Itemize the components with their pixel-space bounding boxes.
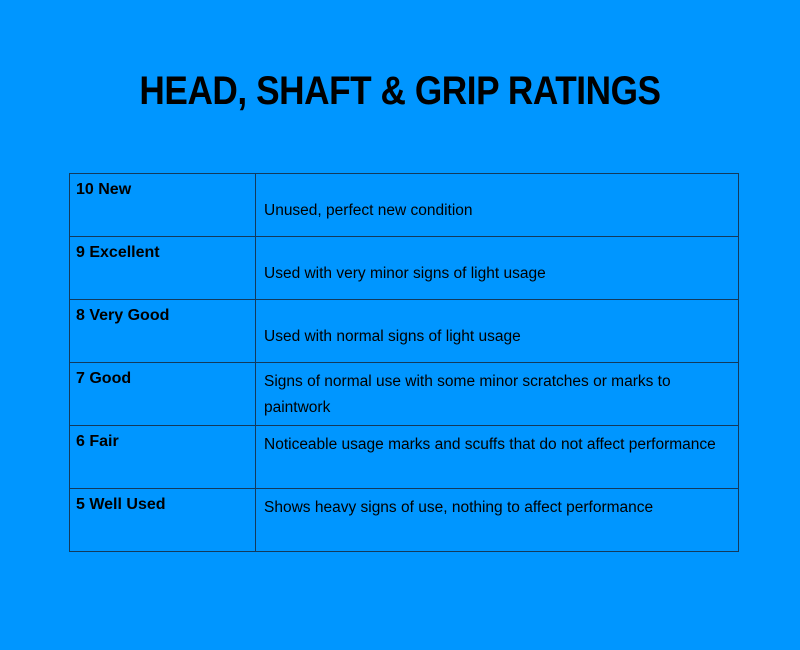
rating-description: Noticeable usage marks and scuffs that d… (256, 426, 738, 458)
table-row: 10 New Unused, perfect new condition (70, 174, 739, 237)
rating-cell: 8 Very Good (70, 300, 256, 363)
description-cell: Used with very minor signs of light usag… (256, 237, 739, 300)
description-cell: Signs of normal use with some minor scra… (256, 363, 739, 426)
rating-label: 5 Well Used (70, 489, 255, 515)
ratings-table: 10 New Unused, perfect new condition 9 E… (69, 173, 739, 552)
rating-description: Unused, perfect new condition (256, 174, 738, 224)
rating-cell: 6 Fair (70, 426, 256, 489)
rating-description: Used with normal signs of light usage (256, 300, 738, 350)
rating-cell: 5 Well Used (70, 489, 256, 552)
description-cell: Used with normal signs of light usage (256, 300, 739, 363)
rating-label: 6 Fair (70, 426, 255, 452)
rating-cell: 7 Good (70, 363, 256, 426)
rating-label: 10 New (70, 174, 255, 200)
rating-label: 8 Very Good (70, 300, 255, 326)
table-row: 6 Fair Noticeable usage marks and scuffs… (70, 426, 739, 489)
description-cell: Unused, perfect new condition (256, 174, 739, 237)
table-row: 8 Very Good Used with normal signs of li… (70, 300, 739, 363)
table-row: 9 Excellent Used with very minor signs o… (70, 237, 739, 300)
page-title: HEAD, SHAFT & GRIP RATINGS (48, 68, 752, 114)
description-cell: Noticeable usage marks and scuffs that d… (256, 426, 739, 489)
ratings-table-body: 10 New Unused, perfect new condition 9 E… (70, 174, 739, 552)
rating-label: 7 Good (70, 363, 255, 389)
rating-description: Used with very minor signs of light usag… (256, 237, 738, 287)
table-row: 5 Well Used Shows heavy signs of use, no… (70, 489, 739, 552)
rating-cell: 9 Excellent (70, 237, 256, 300)
rating-cell: 10 New (70, 174, 256, 237)
slide-canvas: HEAD, SHAFT & GRIP RATINGS 10 New Unused… (0, 0, 800, 650)
table-row: 7 Good Signs of normal use with some min… (70, 363, 739, 426)
rating-description: Signs of normal use with some minor scra… (256, 363, 738, 421)
description-cell: Shows heavy signs of use, nothing to aff… (256, 489, 739, 552)
rating-label: 9 Excellent (70, 237, 255, 263)
rating-description: Shows heavy signs of use, nothing to aff… (256, 489, 738, 521)
